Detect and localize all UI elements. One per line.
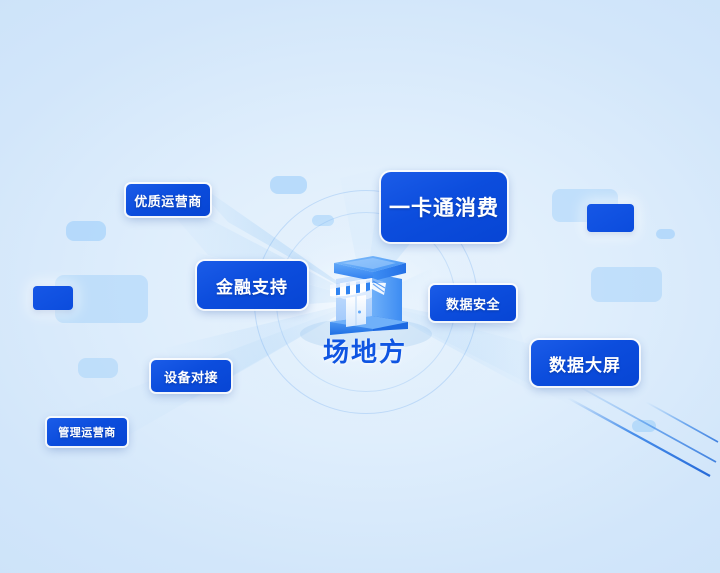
- node-label: 金融支持: [216, 273, 288, 298]
- node-label: 设备对接: [164, 367, 218, 386]
- node-jinrong-zhichi[interactable]: 金融支持: [197, 261, 307, 309]
- node-yikatong-xiaofei[interactable]: 一卡通消费: [381, 172, 507, 242]
- node-shuju-anquan[interactable]: 数据安全: [430, 285, 516, 321]
- deco-rect-left-lower: [78, 358, 118, 378]
- deco-rect-right-lower: [591, 267, 662, 302]
- deco-rect-top-center: [270, 176, 307, 194]
- node-youzhi-yunyingshang[interactable]: 优质运营商: [126, 184, 210, 216]
- deco-solid-rect-left: [33, 286, 73, 310]
- node-label: 数据安全: [446, 294, 500, 313]
- shop-storefront-icon: [310, 243, 420, 343]
- node-label: 一卡通消费: [389, 192, 499, 222]
- diagonal-streak-lines: [560, 378, 720, 488]
- deco-rect-left-small: [66, 221, 106, 241]
- deco-solid-rect-right: [587, 204, 634, 232]
- page-title: 场地方: [300, 332, 430, 369]
- node-label: 管理运营商: [58, 424, 116, 440]
- deco-rect-mid-center: [312, 215, 334, 226]
- node-label: 优质运营商: [134, 191, 202, 210]
- node-shebei-duijie[interactable]: 设备对接: [151, 360, 231, 392]
- node-label: 数据大屏: [549, 351, 621, 376]
- scene-canvas: 场地方 一卡通消费 金融支持 优质运营商 设备对接 管理运营商 数据安全 数据大…: [0, 0, 720, 573]
- node-shuju-daping[interactable]: 数据大屏: [531, 340, 639, 386]
- node-guanli-yunyingshang[interactable]: 管理运营商: [47, 418, 127, 446]
- deco-rect-right-tiny: [656, 229, 675, 239]
